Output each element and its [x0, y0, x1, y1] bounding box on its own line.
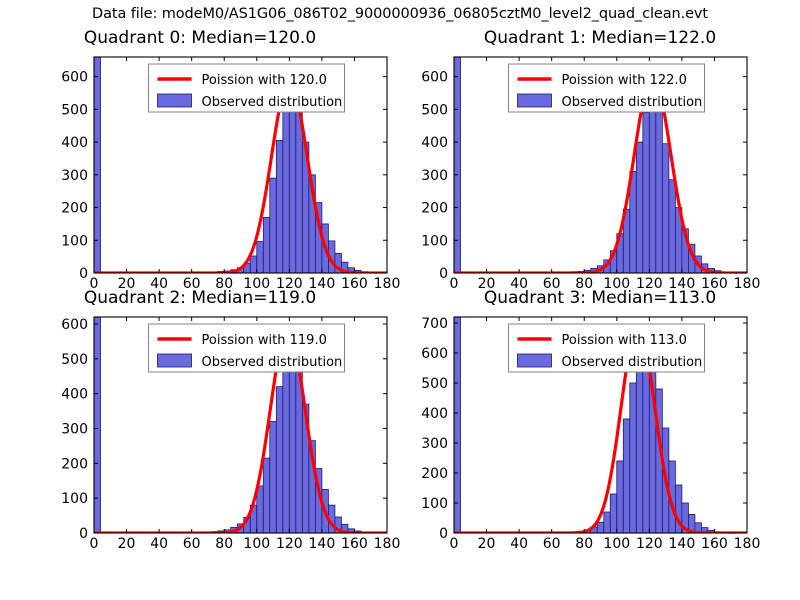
subplot-quadrant-3: Quadrant 3: Median=113.00204060801001201… [400, 288, 800, 556]
x-tick-label: 80 [215, 536, 233, 552]
y-tick-label: 400 [421, 135, 448, 151]
histogram-bar [257, 242, 264, 273]
y-tick-label: 600 [421, 346, 448, 362]
x-tick-label: 120 [636, 536, 663, 552]
x-tick-label: 100 [243, 536, 270, 552]
x-tick-label: 0 [450, 536, 459, 552]
legend-label: Poission with 119.0 [202, 333, 327, 348]
x-tick-label: 120 [276, 536, 303, 552]
y-tick-label: 300 [61, 421, 88, 437]
histogram-bar [636, 142, 643, 273]
y-tick-label: 400 [421, 406, 448, 422]
legend-patch-swatch [518, 94, 552, 107]
histogram-bar [263, 458, 270, 533]
legend-label: Observed distribution [562, 355, 703, 370]
legend-label: Observed distribution [202, 355, 343, 370]
plot-area: 0204060801001201401601800100200300400500… [0, 28, 400, 296]
histogram-bar [597, 522, 604, 533]
subplot-quadrant-2: Quadrant 2: Median=119.00204060801001201… [0, 288, 400, 556]
histogram-bar [656, 109, 663, 273]
y-tick-label: 100 [61, 233, 88, 249]
y-tick-label: 100 [61, 491, 88, 507]
x-tick-label: 80 [575, 536, 593, 552]
x-tick-label: 60 [183, 536, 201, 552]
y-tick-label: 100 [421, 233, 448, 249]
y-tick-label: 0 [439, 266, 448, 282]
histogram-bar [283, 362, 290, 533]
x-tick-label: 160 [341, 536, 368, 552]
y-tick-label: 500 [421, 102, 448, 118]
histogram-bar [270, 178, 277, 273]
y-tick-label: 600 [61, 317, 88, 333]
y-tick-label: 300 [61, 168, 88, 184]
plot-area: 0204060801001201401601800100200300400500… [400, 28, 800, 296]
x-tick-label: 60 [543, 536, 561, 552]
histogram-bar [276, 140, 283, 273]
histogram-bar [263, 217, 270, 273]
y-tick-label: 500 [61, 352, 88, 368]
y-tick-label: 0 [439, 526, 448, 542]
x-tick-label: 140 [669, 536, 696, 552]
histogram-bar [610, 494, 617, 533]
y-tick-label: 200 [61, 201, 88, 217]
legend: Poission with 113.0Observed distribution [509, 324, 705, 372]
y-tick-label: 600 [61, 70, 88, 86]
x-tick-label: 20 [118, 536, 136, 552]
histogram-bar [289, 85, 296, 273]
y-tick-label: 200 [421, 466, 448, 482]
y-tick-label: 500 [61, 102, 88, 118]
x-tick-label: 40 [150, 536, 168, 552]
x-tick-label: 180 [734, 536, 761, 552]
histogram-bar [669, 180, 676, 273]
histogram-bar [283, 109, 290, 273]
y-tick-label: 500 [421, 376, 448, 392]
legend: Poission with 119.0Observed distribution [149, 324, 345, 372]
legend: Poission with 120.0Observed distribution [149, 64, 345, 112]
x-tick-label: 180 [374, 536, 400, 552]
histogram-bar [94, 317, 101, 533]
histogram-bar [250, 256, 257, 273]
x-tick-label: 20 [478, 536, 496, 552]
legend-label: Poission with 113.0 [562, 333, 687, 348]
legend-label: Observed distribution [202, 95, 343, 110]
y-tick-label: 700 [421, 316, 448, 332]
histogram-bar [296, 108, 303, 273]
histogram-bar [454, 317, 461, 533]
x-tick-label: 100 [603, 536, 630, 552]
histogram-bar [630, 383, 637, 533]
legend-label: Poission with 122.0 [562, 73, 687, 88]
histogram-bar [270, 422, 277, 533]
legend-patch-swatch [158, 354, 192, 367]
x-tick-label: 0 [90, 536, 99, 552]
x-tick-label: 40 [510, 536, 528, 552]
legend-label: Poission with 120.0 [202, 73, 327, 88]
legend: Poission with 122.0Observed distribution [509, 64, 705, 112]
figure-suptitle: Data file: modeM0/AS1G06_086T02_90000009… [0, 6, 800, 22]
plot-area: 0204060801001201401601800100200300400500… [400, 288, 800, 556]
histogram-bar [623, 419, 630, 533]
histogram-bar [289, 348, 296, 533]
x-tick-label: 160 [701, 536, 728, 552]
histogram-bar [604, 512, 611, 533]
y-tick-label: 100 [421, 496, 448, 512]
y-tick-label: 300 [421, 168, 448, 184]
histogram-bar [257, 486, 264, 533]
legend-label: Observed distribution [562, 95, 703, 110]
y-tick-label: 400 [61, 135, 88, 151]
y-tick-label: 600 [421, 70, 448, 86]
y-tick-label: 200 [421, 201, 448, 217]
plot-area: 0204060801001201401601800100200300400500… [0, 288, 400, 556]
subplot-quadrant-0: Quadrant 0: Median=120.00204060801001201… [0, 28, 400, 296]
x-tick-label: 140 [309, 536, 336, 552]
histogram-bar [643, 113, 650, 273]
legend-patch-swatch [158, 94, 192, 107]
histogram-bar [662, 144, 669, 273]
histogram-bar [636, 359, 643, 533]
y-tick-label: 300 [421, 436, 448, 452]
subplot-quadrant-1: Quadrant 1: Median=122.00204060801001201… [400, 28, 800, 296]
legend-patch-swatch [518, 354, 552, 367]
histogram-bar [617, 461, 624, 533]
figure-canvas: Data file: modeM0/AS1G06_086T02_90000009… [0, 0, 800, 600]
y-tick-label: 0 [79, 266, 88, 282]
histogram-bar [276, 387, 283, 533]
y-tick-label: 200 [61, 456, 88, 472]
y-tick-label: 400 [61, 387, 88, 403]
y-tick-label: 0 [79, 526, 88, 542]
histogram-bar [649, 95, 656, 273]
